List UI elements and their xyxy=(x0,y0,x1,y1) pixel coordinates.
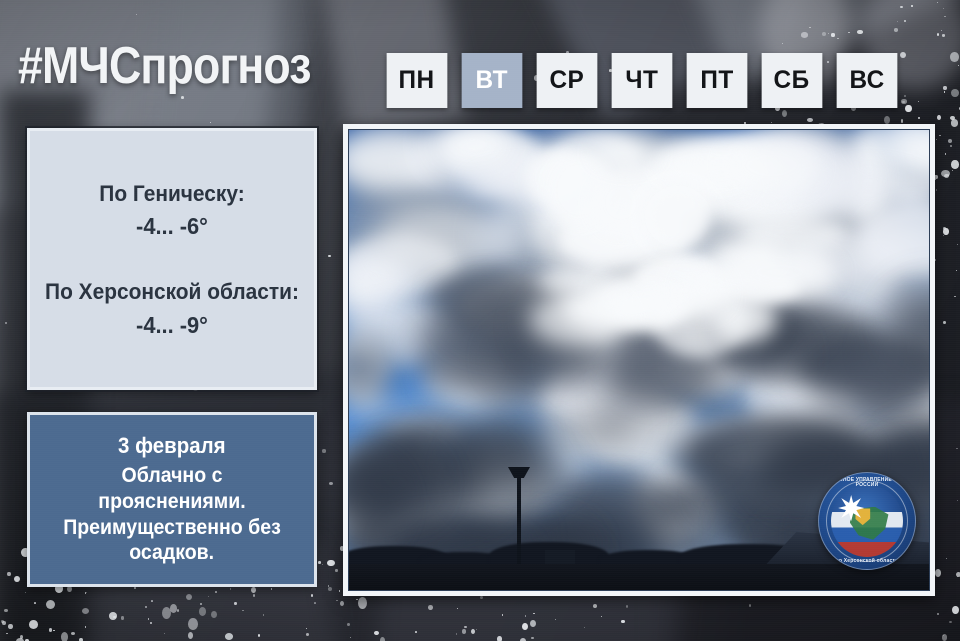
day-button-label: ПН xyxy=(399,66,435,95)
temperature-label: По Херсонской области: xyxy=(37,278,307,306)
temperature-entry-1: По Херсонской области: -4... -9° xyxy=(30,278,314,339)
temperature-value: -4... -9° xyxy=(37,312,307,339)
emblem-text-bottom: по Херсонской области xyxy=(819,559,915,564)
temperature-panel: По Геническу: -4... -6° По Херсонской об… xyxy=(27,128,317,390)
day-button-вт[interactable]: ВТ xyxy=(462,53,523,108)
cloud-puff xyxy=(529,291,627,347)
cloud-puff xyxy=(583,390,644,450)
cloud-puff xyxy=(417,333,482,392)
forecast-description-line-3: осадков. xyxy=(130,540,215,566)
temperature-label: По Геническу: xyxy=(37,180,307,208)
cloud-puff xyxy=(728,243,831,301)
day-button-чт[interactable]: ЧТ xyxy=(612,53,673,108)
description-panel: 3 февраля Облачно с прояснениями. Преиму… xyxy=(27,412,317,587)
cloud-puff xyxy=(453,290,519,330)
cloud-puff xyxy=(454,432,552,514)
forecast-description-line-1: Облачно с прояснениями. xyxy=(49,463,295,514)
mchs-emblem: ГЛАВНОЕ УПРАВЛЕНИЕ МЧС РОССИИ по Херсонс… xyxy=(818,472,916,570)
day-button-label: ВТ xyxy=(476,66,509,95)
cloud-puff xyxy=(681,267,726,315)
lamppost-pole xyxy=(517,472,521,568)
forecast-date: 3 февраля xyxy=(118,433,225,459)
star-icon xyxy=(838,495,864,521)
day-button-ср[interactable]: СР xyxy=(537,53,598,108)
emblem-text-top: ГЛАВНОЕ УПРАВЛЕНИЕ МЧС РОССИИ xyxy=(819,478,915,488)
temperature-value: -4... -6° xyxy=(37,213,307,240)
emblem-inner xyxy=(831,485,903,557)
temperature-entry-0: По Геническу: -4... -6° xyxy=(30,180,314,241)
forecast-graphic: #МЧСпрогноз ПНВТСРЧТПТСБВС По Геническу:… xyxy=(0,0,960,641)
day-button-пн[interactable]: ПН xyxy=(387,53,448,108)
day-button-label: ЧТ xyxy=(625,66,658,95)
day-button-сб[interactable]: СБ xyxy=(762,53,823,108)
day-selector[interactable]: ПНВТСРЧТПТСБВС xyxy=(384,53,900,108)
day-button-пт[interactable]: ПТ xyxy=(687,53,748,108)
cloud-puff xyxy=(724,135,819,196)
day-button-label: ВС xyxy=(849,66,884,95)
day-button-вс[interactable]: ВС xyxy=(837,53,898,108)
day-button-label: ПТ xyxy=(700,66,733,95)
forecast-description-line-2: Преимущественно без xyxy=(63,515,281,541)
day-button-label: СР xyxy=(550,66,585,95)
page-title: #МЧСпрогноз xyxy=(18,40,311,92)
cloud-puff xyxy=(808,347,920,425)
skyline-ground xyxy=(349,564,929,590)
cloud-puff xyxy=(591,172,652,234)
cloud-puff xyxy=(644,185,712,249)
day-button-label: СБ xyxy=(774,66,810,95)
